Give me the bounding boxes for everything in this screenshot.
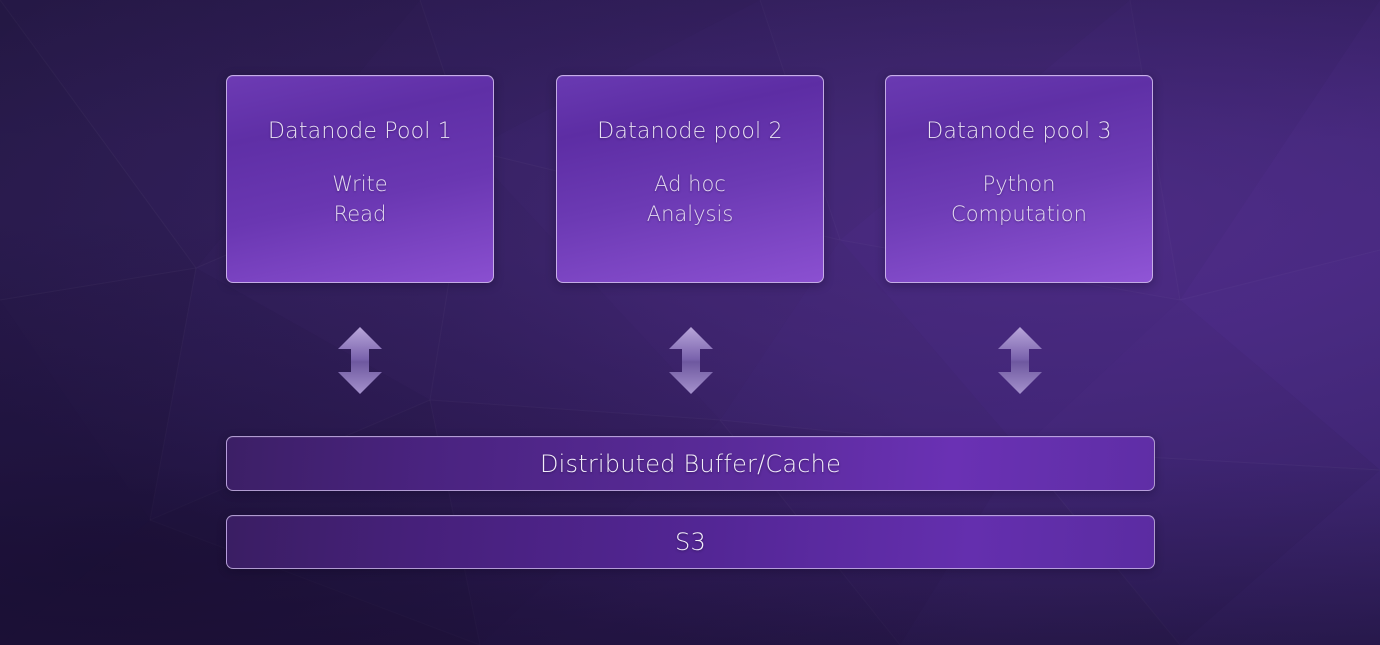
double-arrow-vertical-icon bbox=[998, 327, 1042, 394]
datanode-pool-1-body: Write Read bbox=[332, 169, 387, 229]
double-arrow-vertical-icon bbox=[669, 327, 713, 394]
s3-storage-bar[interactable]: S3 bbox=[226, 515, 1155, 569]
datanode-pool-2-body: Ad hoc Analysis bbox=[647, 169, 734, 229]
datanode-pool-3-box[interactable]: Datanode pool 3 Python Computation bbox=[885, 75, 1153, 283]
datanode-pool-3-title: Datanode pool 3 bbox=[926, 121, 1111, 143]
diagram-canvas: Datanode Pool 1 Write Read Datanode pool… bbox=[0, 0, 1380, 645]
s3-storage-label: S3 bbox=[675, 528, 706, 556]
datanode-pool-1-box[interactable]: Datanode Pool 1 Write Read bbox=[226, 75, 494, 283]
datanode-pool-2-title: Datanode pool 2 bbox=[597, 121, 782, 143]
distributed-buffer-cache-label: Distributed Buffer/Cache bbox=[540, 450, 841, 478]
datanode-pool-2-body-line-2: Analysis bbox=[647, 199, 734, 229]
datanode-pool-3-body-line-1: Python bbox=[951, 169, 1087, 199]
datanode-pool-1-title: Datanode Pool 1 bbox=[268, 121, 452, 143]
datanode-pool-1-body-line-1: Write bbox=[332, 169, 387, 199]
datanode-pool-2-box[interactable]: Datanode pool 2 Ad hoc Analysis bbox=[556, 75, 824, 283]
datanode-pool-2-body-line-1: Ad hoc bbox=[647, 169, 734, 199]
datanode-pool-1-body-line-2: Read bbox=[332, 199, 387, 229]
datanode-pool-3-body-line-2: Computation bbox=[951, 199, 1087, 229]
datanode-pool-3-body: Python Computation bbox=[951, 169, 1087, 229]
double-arrow-vertical-icon bbox=[338, 327, 382, 394]
distributed-buffer-cache-bar[interactable]: Distributed Buffer/Cache bbox=[226, 436, 1155, 491]
